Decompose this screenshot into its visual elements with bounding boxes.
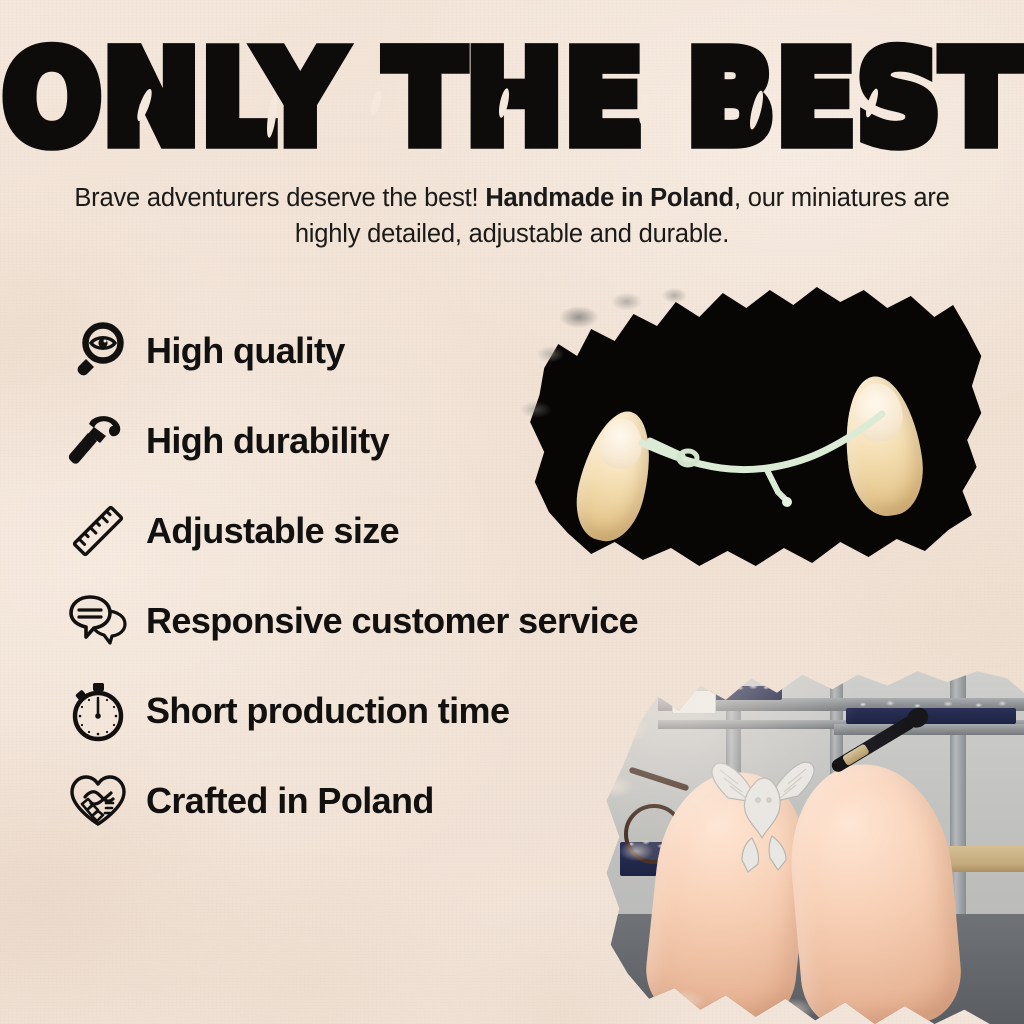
feature-label: Short production time: [146, 690, 509, 732]
subtitle: Brave adventurers deserve the best! Hand…: [0, 180, 1024, 252]
feature-label: High quality: [146, 330, 345, 372]
workshop-scene: [598, 664, 1024, 1024]
feature-label: High durability: [146, 420, 389, 462]
magnifier-eye-icon: [62, 315, 134, 387]
shelf-minis-top-right: [846, 698, 1016, 711]
photo-workshop-painting: [598, 664, 1024, 1024]
ruler-icon: [62, 495, 134, 567]
stopwatch-icon: [62, 675, 134, 747]
speech-bubbles-icon: [62, 585, 134, 657]
hammer-icon: [62, 405, 134, 477]
subtitle-emphasis: Handmade in Poland: [485, 184, 734, 212]
subtitle-lead: Brave adventurers deserve the best!: [74, 184, 478, 212]
shelf-beam-lower: [834, 724, 1024, 735]
photo-torn-mask: [516, 278, 986, 578]
feature-item-customer-service: Responsive customer service: [62, 576, 762, 666]
dragon-miniature: [694, 754, 832, 880]
poster-canvas: ONLY THE BEST Brave adventurers deserve …: [0, 0, 1024, 1024]
photo-flexible-miniature: [516, 278, 986, 578]
handshake-heart-icon: [62, 765, 134, 837]
page-title: ONLY THE BEST: [2, 34, 1022, 164]
feature-label: Adjustable size: [146, 510, 399, 552]
miniature-part-green: [516, 278, 986, 578]
feature-label: Crafted in Poland: [146, 780, 434, 822]
feature-label: Responsive customer service: [146, 600, 638, 642]
headline-container: ONLY THE BEST: [0, 34, 1024, 148]
